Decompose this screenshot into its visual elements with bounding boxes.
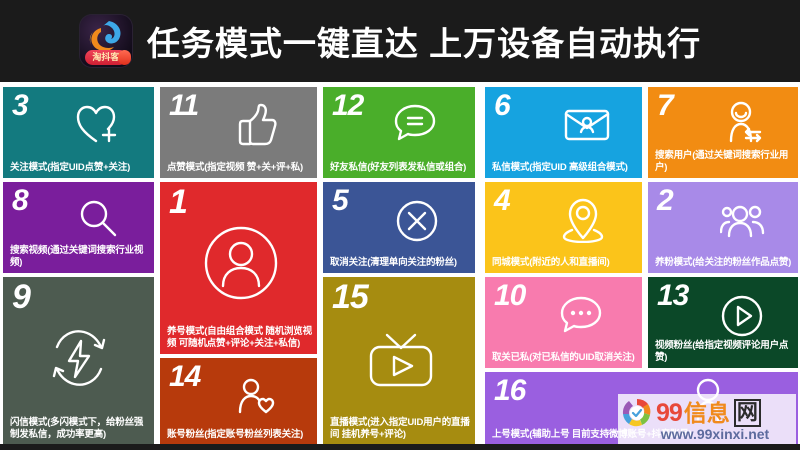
watermark-digits: 99	[656, 399, 682, 427]
logo-badge-dot-icon	[118, 50, 131, 65]
tile-number: 3	[12, 89, 28, 122]
magnifier-icon	[77, 198, 119, 240]
promo-banner-page: 淘抖客 任务模式一键直达 上万设备自动执行 3关注模式(指定UID点赞+关注)1…	[0, 0, 800, 450]
play-circle-icon	[720, 294, 764, 338]
mode-tile-2[interactable]: 2养粉模式(给关注的粉丝作品点赞)	[648, 182, 798, 273]
tile-number: 7	[657, 89, 673, 122]
tile-number: 10	[494, 279, 525, 312]
person-heart-icon	[238, 378, 276, 416]
tile-label: 同城模式(附近的人和直播间)	[492, 257, 637, 269]
tile-number: 2	[657, 184, 673, 217]
mode-tile-7[interactable]: 7搜索用户(通过关键词搜索行业用户)	[648, 87, 798, 178]
mode-tile-13[interactable]: 13视频粉丝(给指定视频评论用户点赞)	[648, 277, 798, 368]
tile-label: 账号粉丝(指定账号粉丝列表关注)	[167, 429, 312, 441]
bottom-strip	[0, 444, 800, 450]
site-watermark: 99 信息 网 www.99xinxi.net	[618, 394, 796, 446]
watermark-box-char: 网	[734, 399, 761, 427]
tile-number: 11	[169, 89, 198, 122]
chat-dots-icon	[559, 295, 603, 335]
mode-tile-3[interactable]: 3关注模式(指定UID点赞+关注)	[3, 87, 154, 178]
heart-plus-icon	[75, 103, 121, 145]
envelope-person-icon	[563, 107, 611, 143]
tile-number: 6	[494, 89, 510, 122]
tile-number: 12	[332, 89, 363, 122]
thumbs-up-icon	[238, 103, 278, 147]
mode-tile-15[interactable]: 15直播模式(进入指定UID用户的直播间 挂机养号+评论)	[323, 277, 475, 445]
tile-number: 9	[12, 279, 30, 316]
refresh-lightning-icon	[45, 325, 113, 391]
tile-label: 关注模式(指定UID点赞+关注)	[10, 162, 149, 174]
tile-label: 搜索用户(通过关键词搜索行业用户)	[655, 150, 793, 174]
tile-number: 5	[332, 184, 348, 217]
tile-number: 1	[169, 184, 187, 221]
tile-number: 8	[12, 184, 28, 217]
watermark-word: 信息	[684, 399, 730, 427]
tile-label: 取关已私(对已私信的UID取消关注)	[492, 352, 637, 364]
tile-label: 养号模式(自由组合模式 随机浏览视频 可随机点赞+评论+关注+私信)	[167, 326, 312, 350]
tile-label: 取消关注(清理单向关注的粉丝)	[330, 257, 470, 269]
page-title: 任务模式一键直达 上万设备自动执行	[147, 17, 701, 65]
tile-label: 私信模式(指定UID 高级组合模式)	[492, 162, 637, 174]
location-pin-icon	[561, 197, 605, 243]
chat-bubble-equals-icon	[393, 103, 437, 143]
mode-tile-1[interactable]: 1养号模式(自由组合模式 随机浏览视频 可随机点赞+评论+关注+私信)	[160, 182, 317, 354]
mode-tile-8[interactable]: 8搜索视频(通过关键词搜索行业视频)	[3, 182, 154, 273]
mode-tile-4[interactable]: 4同城模式(附近的人和直播间)	[485, 182, 642, 273]
person-circle-icon	[202, 224, 280, 302]
mode-tile-5[interactable]: 5取消关注(清理单向关注的粉丝)	[323, 182, 475, 273]
tile-number: 4	[494, 184, 510, 217]
tile-label: 点赞模式(指定视频 赞+关+评+私)	[167, 162, 312, 174]
mode-tile-12[interactable]: 12好友私信(好友列表发私信或组合)	[323, 87, 475, 178]
tile-number: 16	[494, 374, 525, 407]
tile-label: 搜索视频(通过关键词搜索行业视频)	[10, 245, 149, 269]
tile-label: 养粉模式(给关注的粉丝作品点赞)	[655, 257, 793, 269]
person-search-icon	[722, 101, 764, 145]
tile-label: 直播模式(进入指定UID用户的直播间 挂机养号+评论)	[330, 417, 470, 441]
mode-tile-14[interactable]: 14账号粉丝(指定账号粉丝列表关注)	[160, 358, 317, 445]
tile-number: 13	[657, 279, 688, 312]
tile-label: 视频粉丝(给指定视频评论用户点赞)	[655, 340, 793, 364]
close-circle-icon	[395, 199, 439, 243]
group-users-icon	[720, 202, 766, 240]
page-header: 淘抖客 任务模式一键直达 上万设备自动执行	[0, 0, 800, 82]
mode-tile-11[interactable]: 11点赞模式(指定视频 赞+关+评+私)	[160, 87, 317, 178]
mode-tile-10[interactable]: 10取关已私(对已私信的UID取消关注)	[485, 277, 642, 368]
taodouke-app-logo: 淘抖客	[79, 14, 133, 68]
tile-number: 15	[332, 279, 368, 316]
tv-play-icon	[365, 323, 437, 389]
mode-tile-9[interactable]: 9闪信模式(多闪模式下，给粉丝强制发私信，成功率更高)	[3, 277, 154, 445]
watermark-logo-icon	[620, 396, 654, 430]
mode-tile-6[interactable]: 6私信模式(指定UID 高级组合模式)	[485, 87, 642, 178]
tile-number: 14	[169, 360, 200, 393]
tile-label: 闪信模式(多闪模式下，给粉丝强制发私信，成功率更高)	[10, 417, 149, 441]
tile-label: 好友私信(好友列表发私信或组合)	[330, 162, 470, 174]
